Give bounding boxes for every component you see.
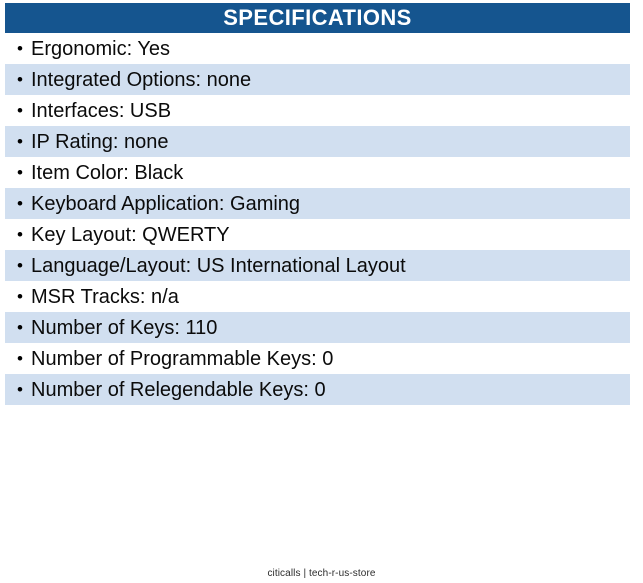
table-row: • Interfaces: USB	[5, 95, 630, 126]
bullet-icon: •	[13, 102, 31, 119]
spec-row-text: Item Color: Black	[31, 163, 183, 183]
table-row: • Ergonomic: Yes	[5, 33, 630, 64]
spec-row-text: IP Rating: none	[31, 132, 169, 152]
bullet-icon: •	[13, 257, 31, 274]
bullet-icon: •	[13, 350, 31, 367]
specifications-header: SPECIFICATIONS	[5, 3, 630, 33]
table-row: • Number of Relegendable Keys: 0	[5, 374, 630, 405]
table-row: • IP Rating: none	[5, 126, 630, 157]
table-row: • Key Layout: QWERTY	[5, 219, 630, 250]
spec-row-text: Key Layout: QWERTY	[31, 225, 230, 245]
bullet-icon: •	[13, 381, 31, 398]
specifications-row-list: • Ergonomic: Yes • Integrated Options: n…	[5, 33, 630, 405]
bullet-icon: •	[13, 288, 31, 305]
bullet-icon: •	[13, 133, 31, 150]
bullet-icon: •	[13, 195, 31, 212]
specifications-sheet: SPECIFICATIONS • Ergonomic: Yes • Integr…	[0, 0, 643, 583]
spec-row-text: Language/Layout: US International Layout	[31, 256, 406, 276]
table-row: • MSR Tracks: n/a	[5, 281, 630, 312]
specifications-table: SPECIFICATIONS • Ergonomic: Yes • Integr…	[5, 3, 630, 405]
table-row: • Language/Layout: US International Layo…	[5, 250, 630, 281]
spec-row-text: Integrated Options: none	[31, 70, 251, 90]
spec-row-text: Number of Keys: 110	[31, 318, 217, 338]
bullet-icon: •	[13, 226, 31, 243]
footer-attribution: citicalls | tech-r-us-store	[267, 568, 375, 579]
table-row: • Keyboard Application: Gaming	[5, 188, 630, 219]
bullet-icon: •	[13, 40, 31, 57]
spec-row-text: Interfaces: USB	[31, 101, 171, 121]
spec-row-text: Number of Relegendable Keys: 0	[31, 380, 326, 400]
table-row: • Number of Programmable Keys: 0	[5, 343, 630, 374]
bullet-icon: •	[13, 71, 31, 88]
footer: citicalls | tech-r-us-store	[0, 563, 643, 581]
table-row: • Item Color: Black	[5, 157, 630, 188]
bullet-icon: •	[13, 164, 31, 181]
bullet-icon: •	[13, 319, 31, 336]
table-row: • Number of Keys: 110	[5, 312, 630, 343]
spec-row-text: MSR Tracks: n/a	[31, 287, 179, 307]
spec-row-text: Ergonomic: Yes	[31, 39, 170, 59]
spec-row-text: Keyboard Application: Gaming	[31, 194, 300, 214]
spec-row-text: Number of Programmable Keys: 0	[31, 349, 333, 369]
page-title: SPECIFICATIONS	[223, 7, 412, 29]
table-row: • Integrated Options: none	[5, 64, 630, 95]
